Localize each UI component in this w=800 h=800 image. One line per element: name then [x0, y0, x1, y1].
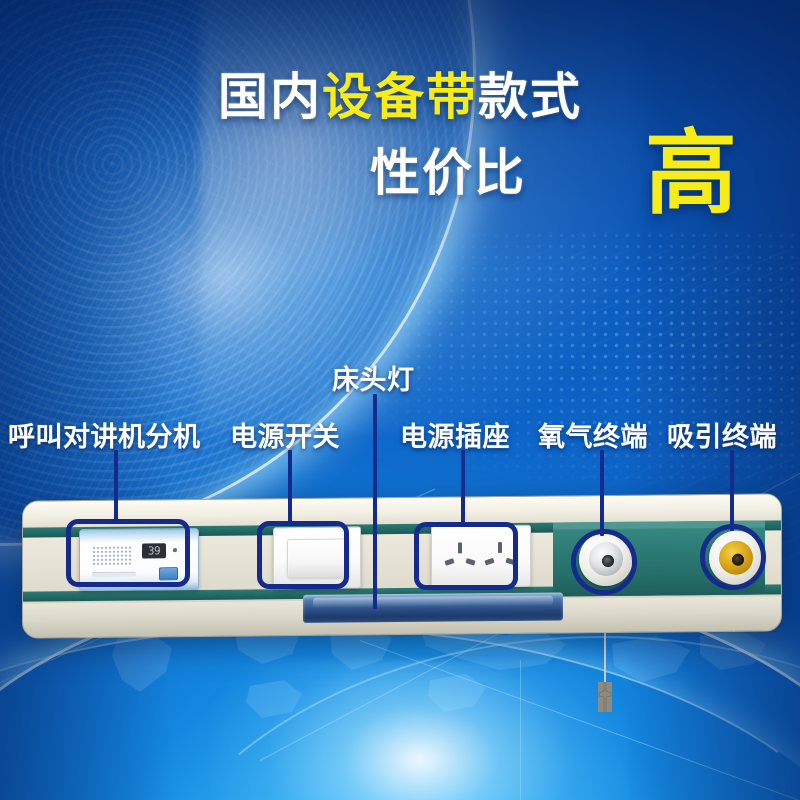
- promo-image-stage: 国内设备带款式 性价比 高 39: [0, 0, 800, 800]
- callout-label-power-socket: 电源插座: [400, 415, 510, 454]
- callout-label-power-switch: 电源开关: [230, 415, 340, 454]
- highlight-intercom: [66, 519, 190, 587]
- callout-label-oxygen: 氧气终端: [538, 415, 648, 454]
- callout-label-bedside-lamp: 床头灯: [332, 358, 415, 397]
- callout-leader-intercom: [114, 450, 118, 522]
- callout-layer: 呼叫对讲机分机 电源开关 床头灯 电源插座 氧气终端 吸引终端: [0, 0, 800, 800]
- callout-label-suction: 吸引终端: [667, 415, 777, 454]
- highlight-suction-terminal: [700, 524, 766, 590]
- highlight-oxygen-terminal: [571, 529, 637, 595]
- callout-leader-power-switch: [288, 450, 292, 523]
- callout-leader-suction: [730, 450, 734, 531]
- callout-leader-bedside-lamp: [373, 394, 377, 609]
- highlight-power-switch: [257, 521, 349, 589]
- highlight-power-socket: [414, 522, 518, 590]
- callout-leader-oxygen: [600, 450, 604, 536]
- callout-leader-power-socket: [461, 450, 465, 524]
- callout-label-intercom: 呼叫对讲机分机: [8, 415, 201, 454]
